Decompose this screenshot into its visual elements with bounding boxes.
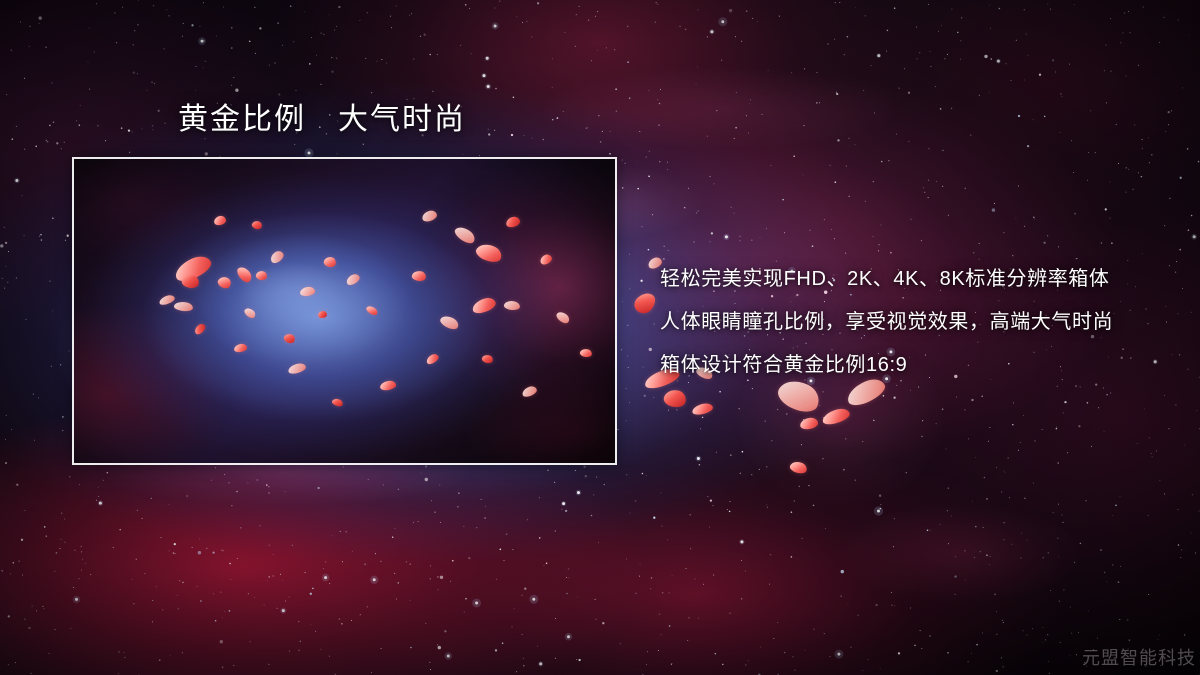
body-line-1: 轻松完美实现FHD、2K、4K、8K标准分辨率箱体 bbox=[660, 258, 1190, 301]
petal bbox=[631, 289, 659, 317]
petal bbox=[318, 311, 327, 318]
presentation-slide: 黄金比例 大气时尚 轻松完美实现FHD、2K、4K、8K标准分辨率箱体 人体眼睛… bbox=[0, 0, 1200, 675]
image-vignette bbox=[74, 159, 615, 463]
petal bbox=[691, 402, 714, 416]
framed-image bbox=[72, 157, 617, 465]
body-line-3: 箱体设计符合黄金比例16:9 bbox=[660, 344, 1190, 387]
body-copy: 轻松完美实现FHD、2K、4K、8K标准分辨率箱体 人体眼睛瞳孔比例，享受视觉效… bbox=[660, 258, 1190, 387]
body-line-2: 人体眼睛瞳孔比例，享受视觉效果，高端大气时尚 bbox=[660, 301, 1190, 344]
page-title: 黄金比例 大气时尚 bbox=[178, 101, 466, 139]
petal bbox=[821, 406, 851, 426]
petal bbox=[662, 388, 687, 410]
petal bbox=[799, 417, 818, 430]
petal bbox=[789, 460, 809, 476]
watermark: 元盟智能科技 bbox=[1082, 644, 1196, 670]
